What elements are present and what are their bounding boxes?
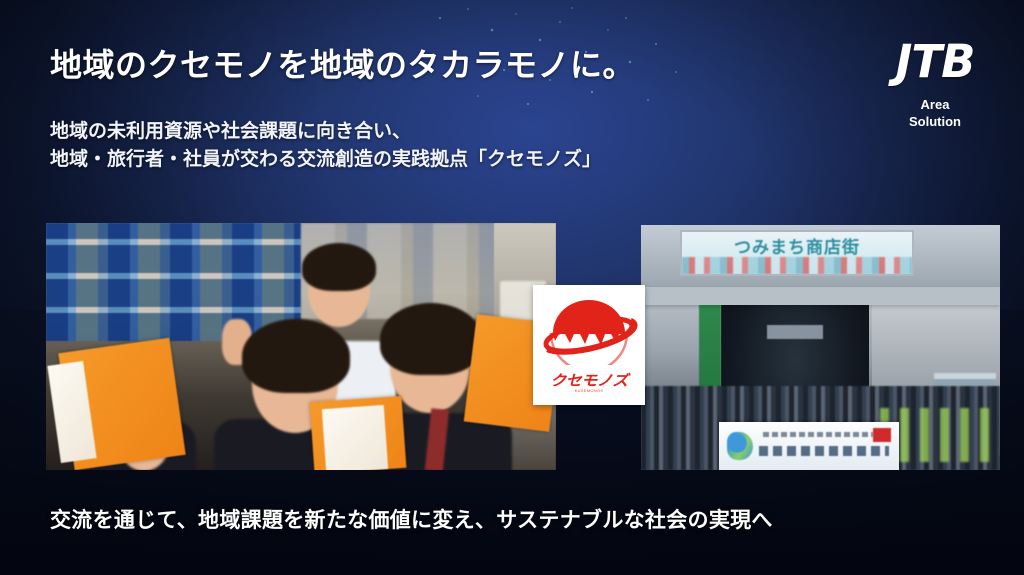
banner-red-mark (873, 428, 891, 442)
jtb-wordmark: JTB (870, 36, 1000, 88)
subtitle-line-1: 地域の未利用資源や社会課題に向き合い、 (50, 118, 810, 146)
shopping-street-sign-artwork (682, 257, 912, 274)
banner-text-line-1 (763, 432, 873, 437)
shopping-street-sign-text: つみまち商店街 (682, 233, 912, 258)
classroom-display-board (46, 223, 301, 341)
subtitle-line-2: 地域・旅行者・社員が交わる交流創造の実践拠点「クセモノズ」 (50, 146, 810, 174)
arcade-beam (641, 287, 1000, 305)
page-title: 地域のクセモノを地域のタカラモノに。 (50, 40, 870, 86)
student-center-hair (242, 319, 350, 393)
kusemonos-logo-card: クセモノズ KUSEMONOS (533, 285, 645, 405)
planet-icon (533, 293, 645, 365)
jtb-subtitle: Area Solution (870, 96, 1000, 130)
arcade-lamp (767, 325, 823, 339)
jtb-logo: JTB Area Solution (870, 36, 1000, 130)
photo-shopping-street: つみまち商店街 (641, 225, 1000, 470)
slide-caption: 交流を通じて、地域課題を新たな価値に変え、サステナブルな社会の実現へ (50, 504, 773, 534)
jtb-subtitle-line-2: Solution (870, 113, 1000, 130)
student-right-hair (380, 303, 482, 375)
kusemonos-tagline: KUSEMONOS (533, 388, 645, 393)
photo-students (46, 223, 556, 470)
subtitle-block: 地域の未利用資源や社会課題に向き合い、 地域・旅行者・社員が交わる交流創造の実践… (50, 118, 810, 174)
banner-text-line-2 (759, 446, 889, 456)
group-photo-banner (719, 422, 899, 470)
presentation-slide: 地域のクセモノを地域のタカラモノに。 地域の未利用資源や社会課題に向き合い、 地… (0, 0, 1024, 575)
shopping-street-sign: つみまち商店街 (680, 230, 914, 276)
kusemonos-wordmark: クセモノズ (533, 368, 645, 390)
banner-logo-icon (727, 432, 753, 460)
booklet-front-page (322, 405, 388, 470)
jtb-subtitle-line-1: Area (870, 96, 1000, 113)
student-back-hair (302, 243, 376, 291)
